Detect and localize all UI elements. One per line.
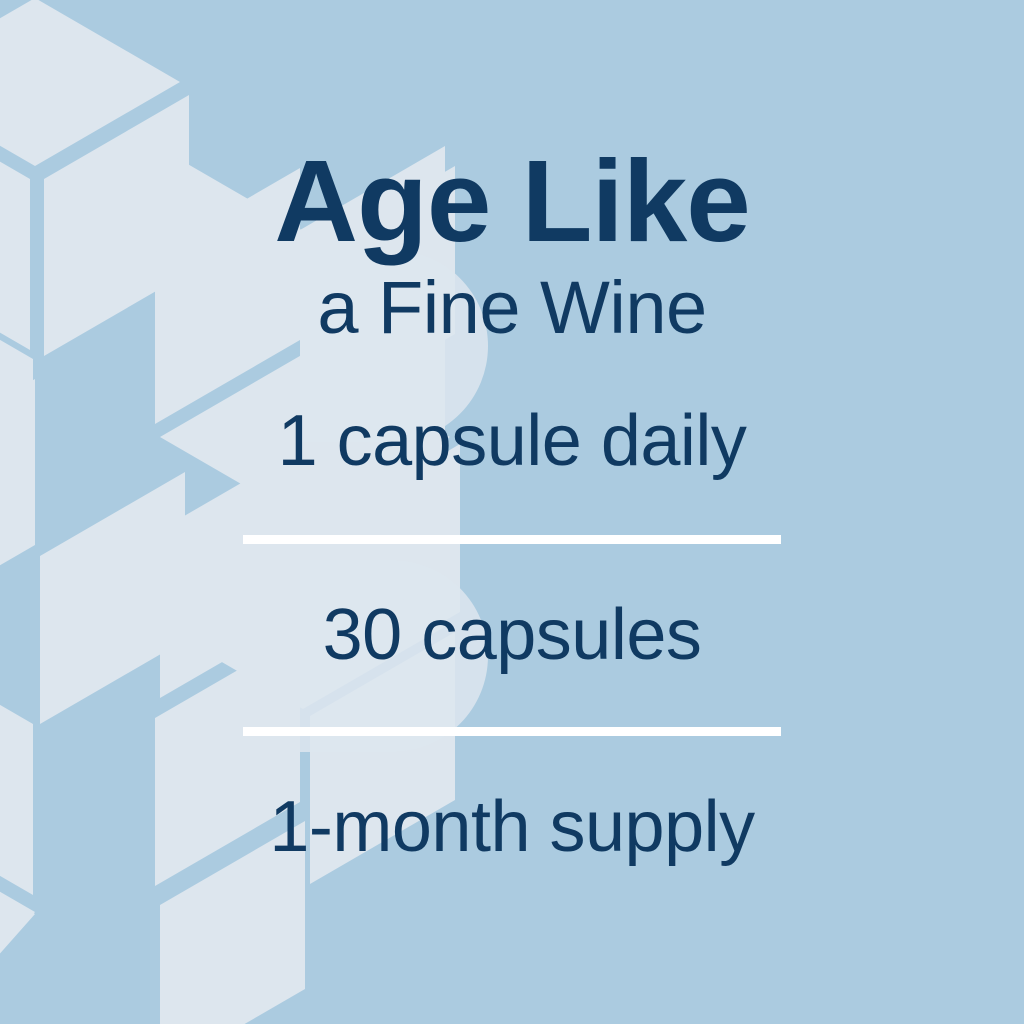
- product-info-card: Age Like a Fine Wine 1 capsule daily 30 …: [0, 0, 1024, 1024]
- page-title: Age Like: [0, 143, 1024, 259]
- fact-supply: 1-month supply: [0, 791, 1024, 863]
- page-subtitle: a Fine Wine: [0, 271, 1024, 345]
- fact-count: 30 capsules: [0, 599, 1024, 671]
- divider-1: [243, 535, 781, 544]
- card-content: Age Like a Fine Wine 1 capsule daily 30 …: [0, 0, 1024, 1024]
- divider-2: [243, 727, 781, 736]
- fact-dosage: 1 capsule daily: [0, 405, 1024, 477]
